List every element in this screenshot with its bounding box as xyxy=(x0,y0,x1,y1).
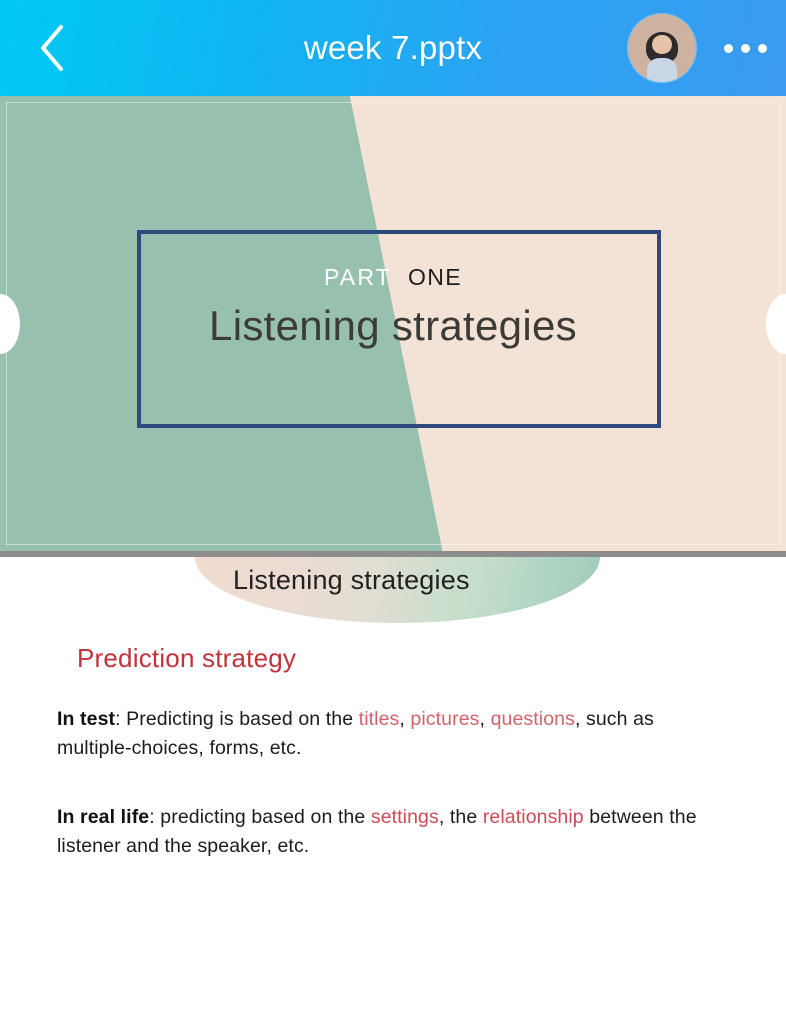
more-options-icon xyxy=(741,44,750,53)
more-options-button[interactable] xyxy=(724,34,780,62)
more-options-icon xyxy=(724,44,733,53)
slide-2-paragraph-in-test: In test: Predicting is based on the titl… xyxy=(57,705,707,763)
paragraph-highlight: pictures xyxy=(410,708,479,730)
avatar-photo-body xyxy=(647,58,677,82)
paragraph-highlight: settings xyxy=(371,806,439,828)
avatar[interactable] xyxy=(628,14,696,82)
paragraph-lead: In real life xyxy=(57,806,149,828)
slide-1-part-number: ONE xyxy=(408,264,462,291)
slide-1-part-row: PART ONE xyxy=(0,264,786,291)
paragraph-text: : predicting based on the xyxy=(149,806,371,828)
paragraph-text: , xyxy=(399,708,410,730)
slide-2-heading: Listening strategies xyxy=(233,565,470,596)
paragraph-lead: In test xyxy=(57,708,115,730)
slide-2-section-title: Prediction strategy xyxy=(77,643,296,674)
slide-2[interactable]: Listening strategies Prediction strategy… xyxy=(0,557,786,1009)
slide-1-title: Listening strategies xyxy=(0,302,786,350)
slide-1-part-label: PART xyxy=(324,264,392,291)
slide-2-paragraph-in-real-life: In real life: predicting based on the se… xyxy=(57,803,707,861)
paragraph-highlight: relationship xyxy=(483,806,584,828)
paragraph-text: , the xyxy=(439,806,483,828)
paragraph-text: : Predicting is based on the xyxy=(115,708,359,730)
app-header: week 7.pptx xyxy=(0,0,786,96)
paragraph-highlight: questions xyxy=(491,708,575,730)
slide-1[interactable]: PART ONE Listening strategies xyxy=(0,96,786,551)
paragraph-text: , xyxy=(480,708,491,730)
more-options-icon xyxy=(758,44,767,53)
paragraph-highlight: titles xyxy=(359,708,400,730)
avatar-photo-face xyxy=(652,35,671,54)
app-root: week 7.pptx PART ONE Listening strategie… xyxy=(0,0,786,1009)
